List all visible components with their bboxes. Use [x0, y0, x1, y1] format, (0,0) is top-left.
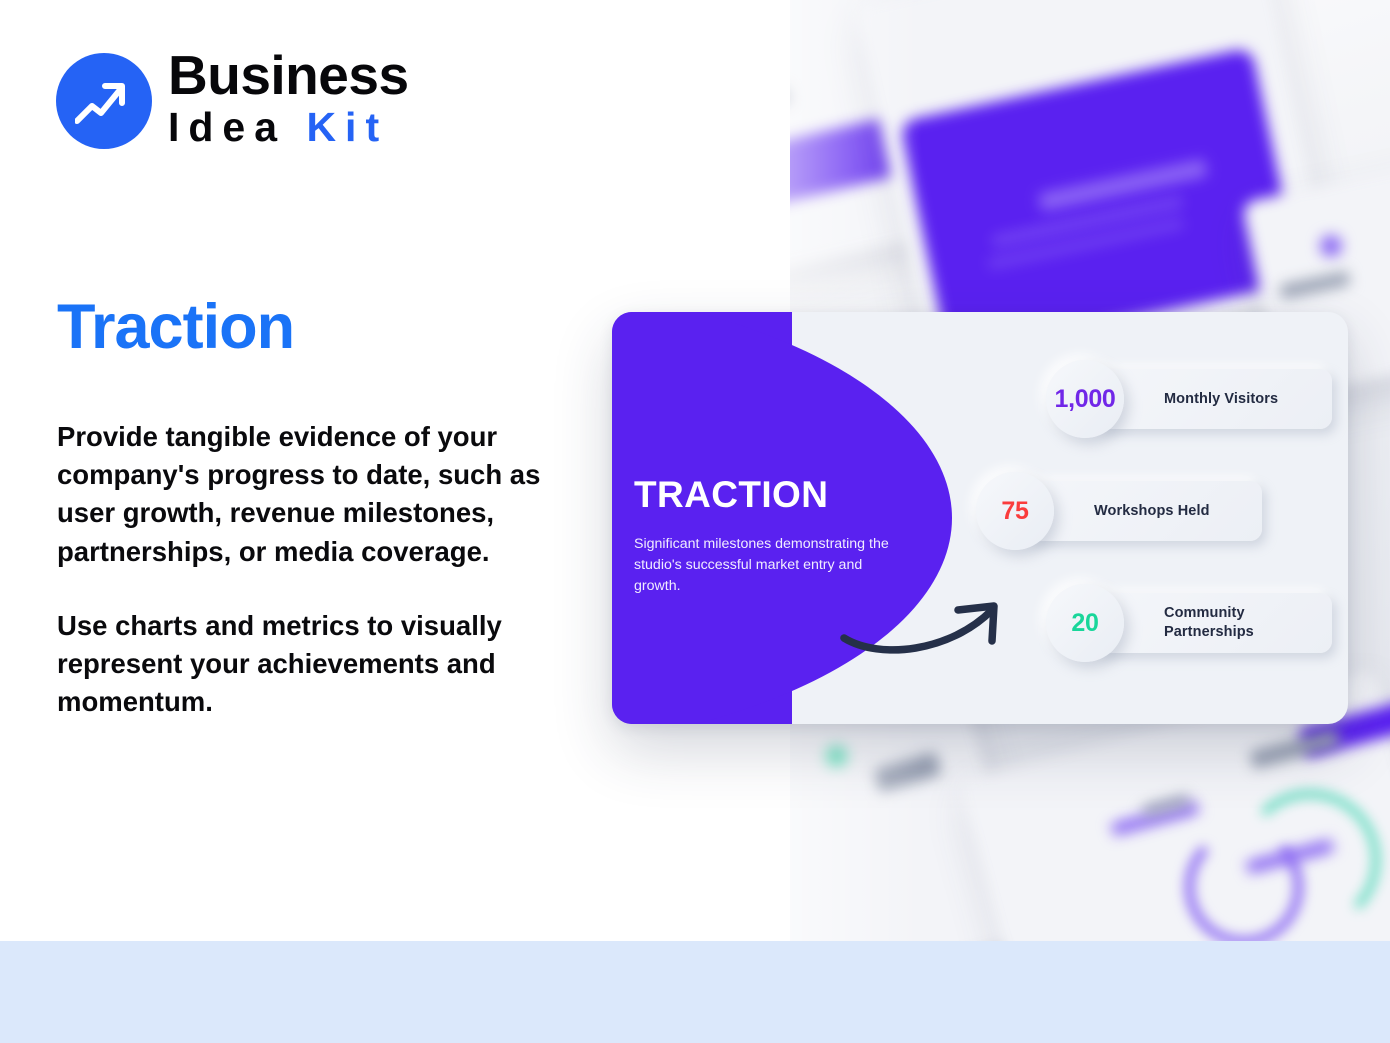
- bg-mock-dot-3: [1320, 235, 1342, 257]
- stat-pill: Community Partnerships: [1094, 593, 1332, 653]
- brand-wordmark: Business Idea Kit: [168, 48, 409, 153]
- stat-label: Monthly Visitors: [1164, 390, 1278, 409]
- brand-logo: Business Idea Kit: [56, 48, 409, 153]
- growth-chart-arrow-icon: [75, 75, 133, 127]
- bottom-accent-bar: [0, 941, 1390, 1043]
- brand-line-2-accent: Kit: [306, 104, 388, 150]
- stat-circle: 75: [976, 472, 1054, 550]
- stat-pill: Monthly Visitors: [1094, 369, 1332, 429]
- slide-title: TRACTION: [634, 476, 828, 513]
- body-paragraph-1: Provide tangible evidence of your compan…: [57, 418, 573, 571]
- brand-line-1: Business: [168, 48, 409, 103]
- stat-value: 20: [1071, 609, 1098, 638]
- bg-mock-dot-4: [825, 745, 847, 767]
- stat-value: 75: [1001, 497, 1028, 526]
- body-copy: Provide tangible evidence of your compan…: [57, 418, 573, 722]
- stat-label: Workshops Held: [1094, 502, 1210, 521]
- page-title: Traction: [57, 296, 294, 359]
- stat-label: Community Partnerships: [1164, 604, 1332, 641]
- brand-line-2: Idea Kit: [168, 103, 409, 151]
- curved-arrow-right-icon: [840, 594, 1020, 664]
- stats-list: Monthly Visitors 1,000 Workshops Held 75…: [1046, 360, 1332, 662]
- stat-circle: 20: [1046, 584, 1124, 662]
- brand-line-2-main: Idea: [168, 104, 306, 150]
- stat-row[interactable]: Workshops Held 75: [976, 472, 1262, 550]
- stat-value: 1,000: [1054, 385, 1115, 414]
- stat-row[interactable]: Monthly Visitors 1,000: [1046, 360, 1332, 438]
- traction-slide-card[interactable]: TRACTION Significant milestones demonstr…: [612, 312, 1348, 724]
- stat-circle: 1,000: [1046, 360, 1124, 438]
- stat-row[interactable]: Community Partnerships 20: [1046, 584, 1332, 662]
- body-paragraph-2: Use charts and metrics to visually repre…: [57, 607, 573, 722]
- slide-subtitle: Significant milestones demonstrating the…: [634, 534, 902, 597]
- stat-pill: Workshops Held: [1024, 481, 1262, 541]
- slide-page: Business Idea Kit Traction Provide tangi…: [0, 0, 1390, 1043]
- logo-circle: [56, 53, 152, 149]
